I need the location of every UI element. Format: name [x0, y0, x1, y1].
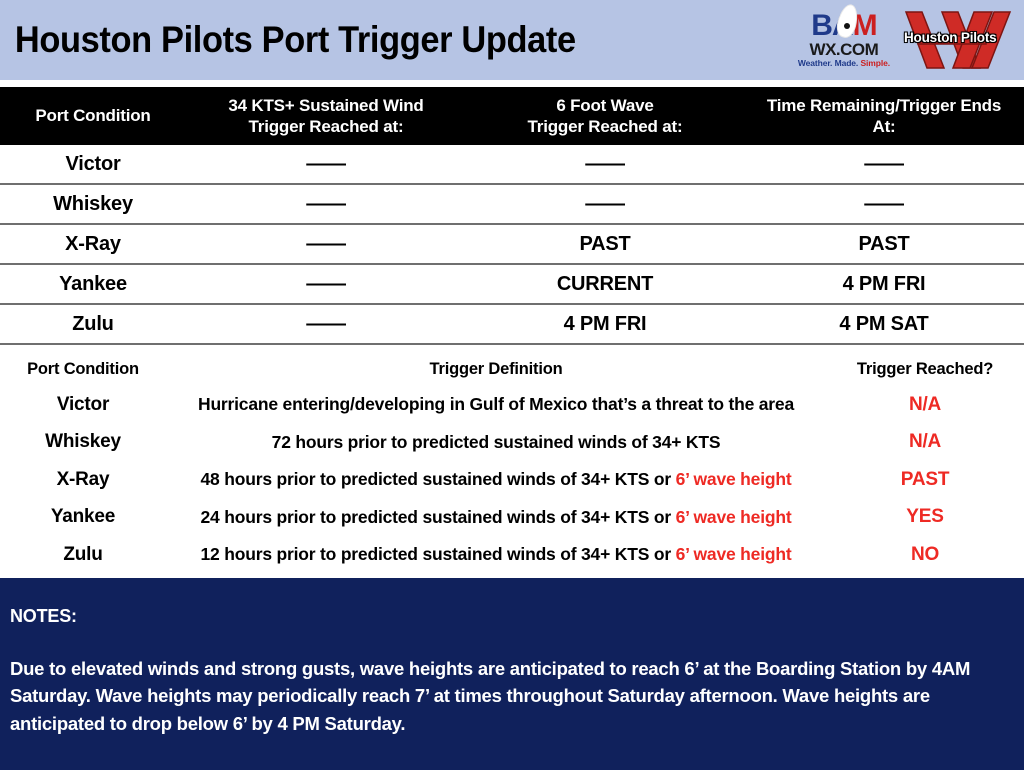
cell-condition: X-Ray — [0, 224, 186, 264]
logo-group: B A M WX.COM Weather. Made. Simple. — [798, 6, 1024, 74]
cell-definition: Hurricane entering/developing in Gulf of… — [166, 386, 826, 424]
notes-panel: NOTES: Due to elevated winds and strong … — [0, 578, 1024, 770]
table-row: Whiskey 72 hours prior to predicted sust… — [0, 424, 1024, 462]
cell-def-condition: X-Ray — [0, 461, 166, 499]
houston-pilots-logo: Houston Pilots — [896, 6, 1014, 74]
cell-wind: —— — [186, 304, 466, 344]
column-header-time-remaining-line1: Time Remaining/Trigger Ends — [744, 95, 1024, 116]
cell-wind: —— — [186, 184, 466, 224]
column-header-trigger-reached: Trigger Reached? — [826, 352, 1024, 386]
trigger-definition-table-head: Port Condition Trigger Definition Trigge… — [0, 352, 1024, 386]
definition-text: 72 hours prior to predicted sustained wi… — [272, 432, 721, 452]
cell-definition: 24 hours prior to predicted sustained wi… — [166, 499, 826, 537]
table-row: Zulu 12 hours prior to predicted sustain… — [0, 536, 1024, 574]
bamwx-tagline-simple: Simple. — [860, 58, 890, 68]
cell-condition: Victor — [0, 145, 186, 184]
column-header-six-foot-wave-line1: 6 Foot Wave — [466, 95, 744, 116]
cell-def-condition: Victor — [0, 386, 166, 424]
table-row: Zulu —— 4 PM FRI 4 PM SAT — [0, 304, 1024, 344]
cell-def-condition: Yankee — [0, 499, 166, 537]
bamwx-letter-b: B — [811, 11, 832, 41]
column-header-sustained-wind-line1: 34 KTS+ Sustained Wind — [186, 95, 466, 116]
trigger-definition-table: Port Condition Trigger Definition Trigge… — [0, 352, 1024, 574]
port-trigger-slide: Houston Pilots Port Trigger Update B A M… — [0, 0, 1024, 770]
definition-text: 12 hours prior to predicted sustained wi… — [201, 544, 676, 564]
cell-result: N/A — [826, 386, 1024, 424]
bamwx-logo: B A M WX.COM Weather. Made. Simple. — [798, 11, 890, 68]
cell-wind: —— — [186, 264, 466, 304]
cell-def-condition: Whiskey — [0, 424, 166, 462]
cell-condition: Yankee — [0, 264, 186, 304]
table-row: Yankee 24 hours prior to predicted susta… — [0, 499, 1024, 537]
cell-definition: 48 hours prior to predicted sustained wi… — [166, 461, 826, 499]
cell-result: YES — [826, 499, 1024, 537]
cell-wave: 4 PM FRI — [466, 304, 744, 344]
cell-wind: —— — [186, 145, 466, 184]
bamwx-domain: WX.COM — [810, 41, 879, 59]
column-header-sustained-wind-line2: Trigger Reached at: — [186, 116, 466, 137]
column-header-time-remaining: Time Remaining/Trigger Ends At: — [744, 87, 1024, 145]
cell-result: N/A — [826, 424, 1024, 462]
cell-result: PAST — [826, 461, 1024, 499]
trigger-status-table-head: Port Condition 34 KTS+ Sustained Wind Tr… — [0, 87, 1024, 145]
definition-text: Hurricane entering/developing in Gulf of… — [198, 394, 794, 414]
column-header-port-condition: Port Condition — [0, 87, 186, 145]
cell-condition: Whiskey — [0, 184, 186, 224]
header-banner: Houston Pilots Port Trigger Update B A M… — [0, 0, 1024, 80]
definition-text: 24 hours prior to predicted sustained wi… — [201, 507, 676, 527]
column-header-six-foot-wave: 6 Foot Wave Trigger Reached at: — [466, 87, 744, 145]
bamwx-letters: B A M — [811, 11, 876, 41]
cell-wave: PAST — [466, 224, 744, 264]
cell-condition: Zulu — [0, 304, 186, 344]
table-row: X-Ray —— PAST PAST — [0, 224, 1024, 264]
table-row: Victor —— —— —— — [0, 145, 1024, 184]
cell-wind: —— — [186, 224, 466, 264]
cell-time: —— — [744, 145, 1024, 184]
table-row: X-Ray 48 hours prior to predicted sustai… — [0, 461, 1024, 499]
page-title: Houston Pilots Port Trigger Update — [0, 19, 576, 61]
definition-wave-highlight: 6’ wave height — [676, 544, 792, 564]
trigger-definition-header-row: Port Condition Trigger Definition Trigge… — [0, 352, 1024, 386]
notes-title: NOTES: — [10, 606, 1000, 627]
bamwx-tagline-weather: Weather. — [798, 58, 832, 68]
cell-time: 4 PM FRI — [744, 264, 1024, 304]
cell-wave: —— — [466, 184, 744, 224]
notes-body: Due to elevated winds and strong gusts, … — [10, 655, 1000, 737]
cell-wave: CURRENT — [466, 264, 744, 304]
table-row: Yankee —— CURRENT 4 PM FRI — [0, 264, 1024, 304]
cell-wave: —— — [466, 145, 744, 184]
trigger-status-header-row: Port Condition 34 KTS+ Sustained Wind Tr… — [0, 87, 1024, 145]
cell-result: NO — [826, 536, 1024, 574]
trigger-status-table-body: Victor —— —— —— Whiskey —— —— —— X-Ray —… — [0, 145, 1024, 344]
table-row: Whiskey —— —— —— — [0, 184, 1024, 224]
cell-definition: 12 hours prior to predicted sustained wi… — [166, 536, 826, 574]
houston-pilots-logo-text: Houston Pilots — [904, 30, 996, 45]
column-header-time-remaining-line2: At: — [744, 116, 1024, 137]
cell-def-condition: Zulu — [0, 536, 166, 574]
definition-wave-highlight: 6’ wave height — [676, 469, 792, 489]
cell-time: PAST — [744, 224, 1024, 264]
cell-time: —— — [744, 184, 1024, 224]
column-header-port-condition-line1: Port Condition — [0, 105, 186, 126]
column-header-sustained-wind: 34 KTS+ Sustained Wind Trigger Reached a… — [186, 87, 466, 145]
bamwx-tagline-made: Made. — [835, 58, 859, 68]
trigger-status-table: Port Condition 34 KTS+ Sustained Wind Tr… — [0, 87, 1024, 345]
column-header-six-foot-wave-line2: Trigger Reached at: — [466, 116, 744, 137]
definition-wave-highlight: 6’ wave height — [676, 507, 792, 527]
cell-definition: 72 hours prior to predicted sustained wi… — [166, 424, 826, 462]
column-header-def-port-condition: Port Condition — [0, 352, 166, 386]
definition-text: 48 hours prior to predicted sustained wi… — [201, 469, 676, 489]
column-header-trigger-definition: Trigger Definition — [166, 352, 826, 386]
trigger-definition-table-body: Victor Hurricane entering/developing in … — [0, 386, 1024, 574]
bamwx-tagline: Weather. Made. Simple. — [798, 59, 890, 68]
cell-time: 4 PM SAT — [744, 304, 1024, 344]
table-row: Victor Hurricane entering/developing in … — [0, 386, 1024, 424]
